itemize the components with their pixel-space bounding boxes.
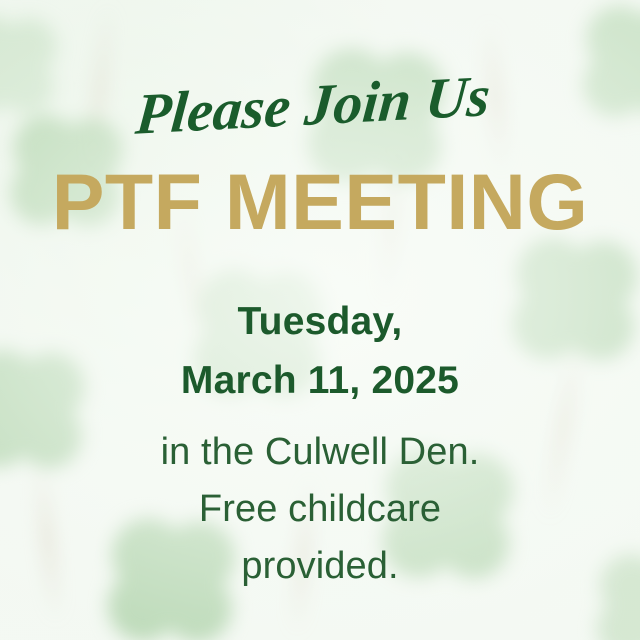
event-detail-line-2: Free childcare	[161, 481, 480, 538]
page-title: PTF MEETING	[52, 162, 589, 241]
event-detail-line-3: provided.	[161, 538, 480, 595]
event-details: in the Culwell Den. Free childcare provi…	[161, 424, 480, 595]
event-date-line-2: March 11, 2025	[181, 352, 459, 411]
event-date: Tuesday, March 11, 2025	[181, 293, 459, 410]
script-heading-text: Please Join Us	[132, 63, 493, 147]
script-heading: Please Join Us	[0, 62, 640, 148]
flyer-content: Please Join Us PTF MEETING Tuesday, Marc…	[0, 0, 640, 640]
flyer-canvas: Please Join Us PTF MEETING Tuesday, Marc…	[0, 0, 640, 640]
event-date-line-1: Tuesday,	[181, 293, 459, 352]
script-heading-artwork: Please Join Us	[85, 62, 555, 148]
event-detail-line-1: in the Culwell Den.	[161, 424, 480, 481]
